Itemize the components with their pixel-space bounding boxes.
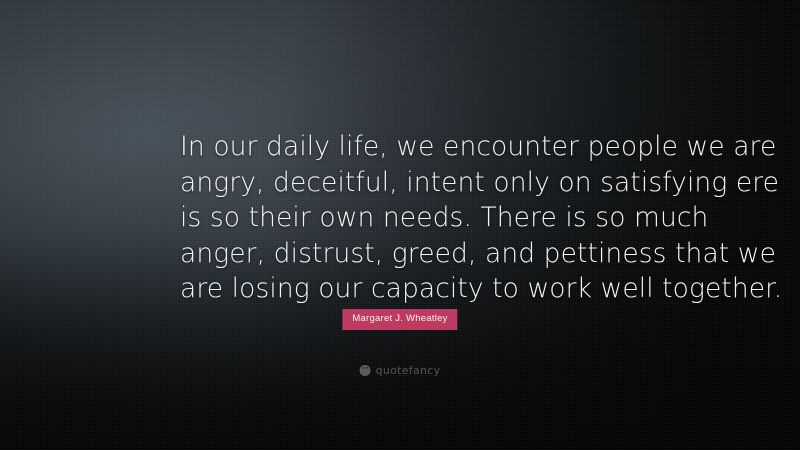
quote-poster: In our daily life, we encounter people w… [0,0,800,450]
quote-line-4: anger, distrust, greed, and pettiness th… [180,236,710,272]
quote-line-5: are losing our capacity to work well tog… [180,271,710,307]
poster-content: In our daily life, we encounter people w… [0,0,800,450]
quotefancy-watermark[interactable]: “” quotefancy [360,365,441,376]
quote-text: In our daily life, we encounter people w… [180,129,710,307]
quote-line-2: angry, deceitful, intent only on satisfy… [180,165,710,201]
quote-line-1: In our daily life, we encounter people w… [180,129,710,165]
quote-line-3: is so their own needs. There is so much [180,200,710,236]
quotefancy-brand-label: quotefancy [376,365,441,376]
quotefancy-circle-logo-icon: “” [360,365,371,376]
quotefancy-logo-glyph: “” [362,367,368,374]
author-name-badge[interactable]: Margaret J. Wheatley [342,309,457,330]
